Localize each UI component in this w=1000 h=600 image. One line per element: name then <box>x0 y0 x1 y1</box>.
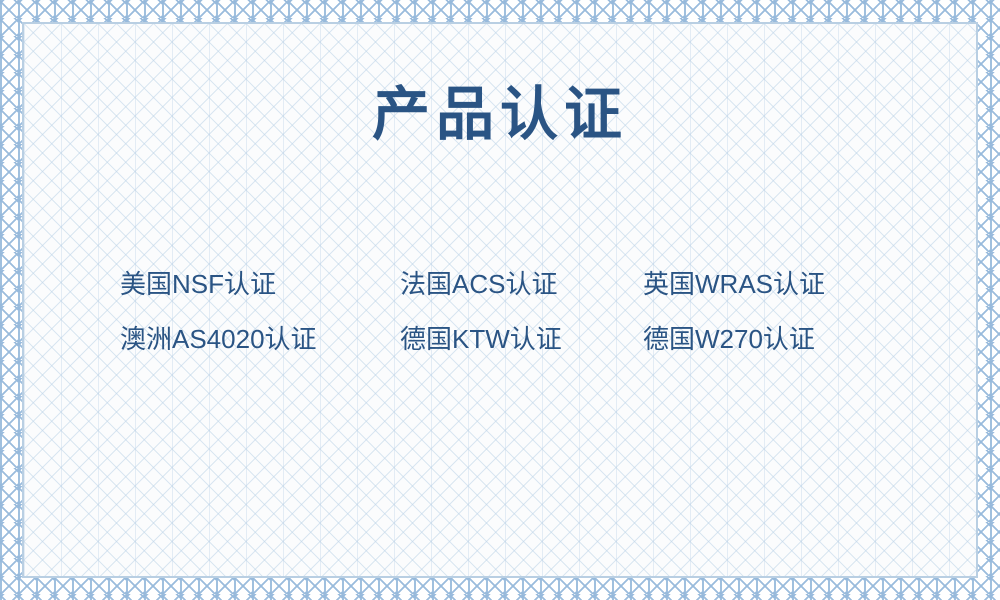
list-item: 英国WRAS认证 <box>643 271 880 297</box>
list-item: 德国KTW认证 <box>400 326 643 352</box>
list-item: 澳洲AS4020认证 <box>120 326 400 352</box>
list-item: 法国ACS认证 <box>400 271 643 297</box>
certification-poster: 产品认证 美国NSF认证 法国ACS认证 英国WRAS认证 澳洲AS4020认证… <box>0 0 1000 600</box>
list-item: 美国NSF认证 <box>120 271 400 297</box>
page-title: 产品认证 <box>24 86 976 144</box>
poster-inner-panel: 产品认证 美国NSF认证 法国ACS认证 英国WRAS认证 澳洲AS4020认证… <box>22 22 978 578</box>
certification-list: 美国NSF认证 法国ACS认证 英国WRAS认证 澳洲AS4020认证 德国KT… <box>120 256 880 366</box>
list-item: 德国W270认证 <box>643 326 880 352</box>
